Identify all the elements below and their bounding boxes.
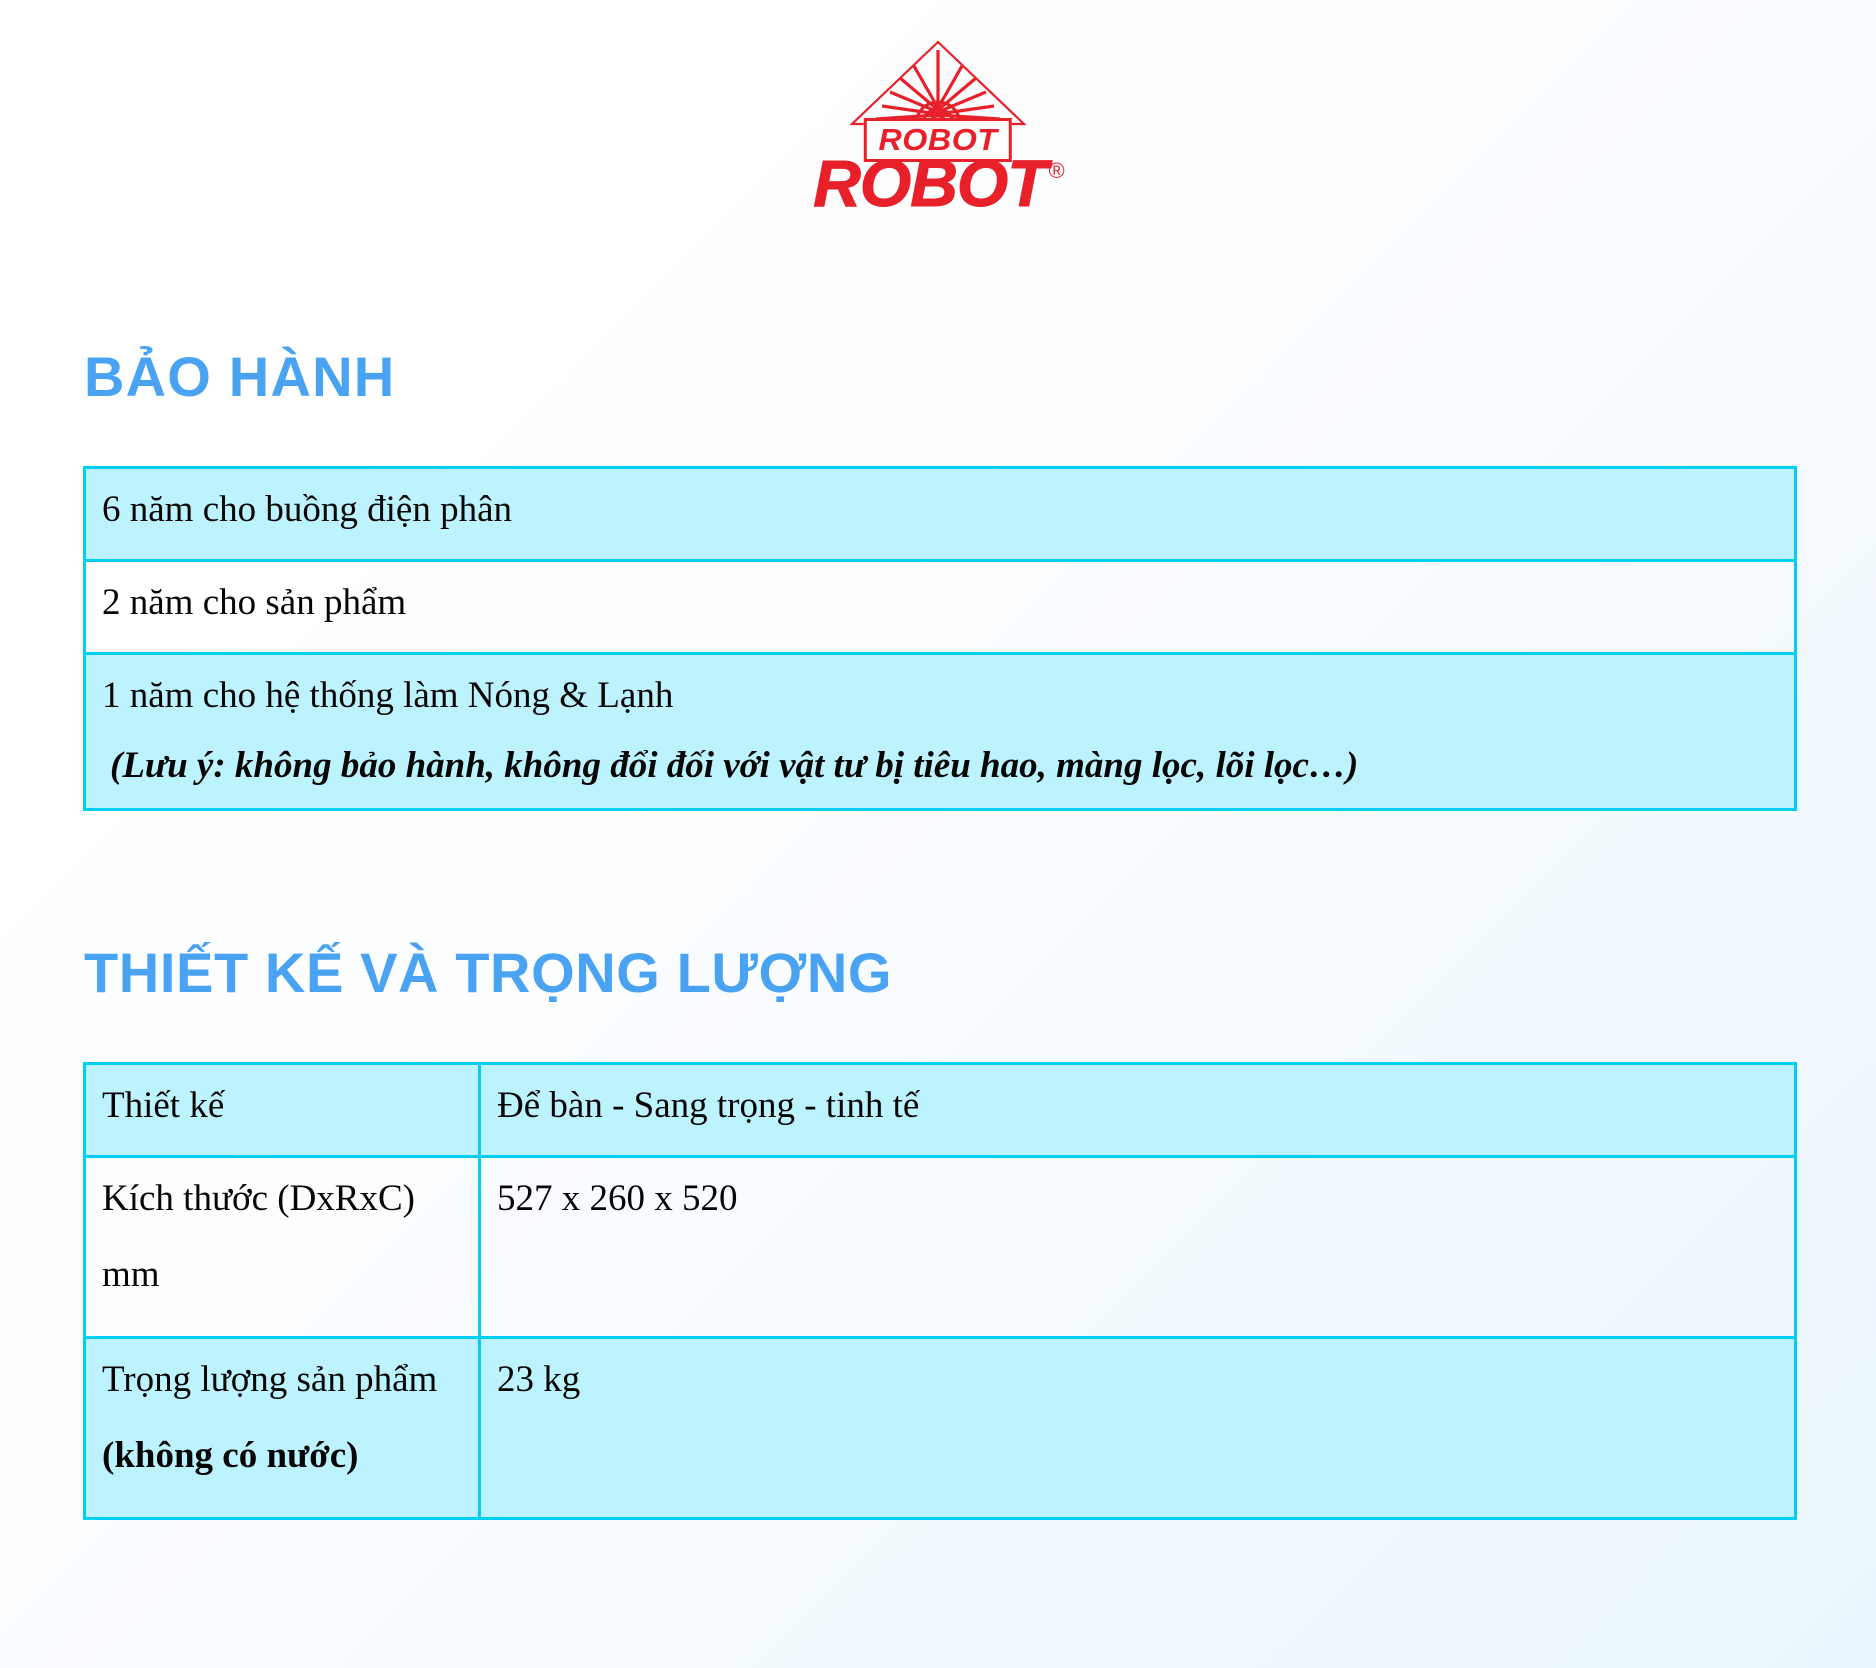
registered-trademark-icon: ® xyxy=(1049,158,1065,183)
section-heading-warranty: BẢO HÀNH xyxy=(84,348,395,407)
warranty-cell-2-main: 1 năm cho hệ thống làm Nóng & Lạnh xyxy=(102,675,673,716)
design-value-0: Để bàn - Sang trọng - tinh tế xyxy=(480,1064,1796,1157)
brand-logo: ROBOT ROBOT® xyxy=(0,40,1876,195)
warranty-cell-0: 6 năm cho buồng điện phân xyxy=(85,468,1796,561)
design-label-2-main: Trọng lượng sản phẩm xyxy=(102,1359,437,1400)
design-label-1-main: Kích thước (DxRxC) xyxy=(102,1178,415,1219)
table-row: 1 năm cho hệ thống làm Nóng & Lạnh (Lưu … xyxy=(85,654,1796,810)
table-row: 6 năm cho buồng điện phân xyxy=(85,468,1796,561)
table-row: 2 năm cho sản phẩm xyxy=(85,561,1796,654)
design-label-2-sub: (không có nước) xyxy=(102,1429,462,1483)
design-label-2: Trọng lượng sản phẩm (không có nước) xyxy=(85,1338,480,1519)
warranty-table: 6 năm cho buồng điện phân 2 năm cho sản … xyxy=(83,466,1797,811)
design-label-1: Kích thước (DxRxC) mm xyxy=(85,1157,480,1338)
design-weight-table: Thiết kế Để bàn - Sang trọng - tinh tế K… xyxy=(83,1062,1797,1520)
logo-wordmark-text: ROBOT xyxy=(813,146,1046,220)
section-heading-design: THIẾT KẾ VÀ TRỌNG LƯỢNG xyxy=(84,944,892,1003)
warranty-note: (Lưu ý: không bảo hành, không đổi đối vớ… xyxy=(102,739,1778,793)
logo-wordmark: ROBOT® xyxy=(813,150,1063,216)
table-row: Kích thước (DxRxC) mm 527 x 260 x 520 xyxy=(85,1157,1796,1338)
design-label-0: Thiết kế xyxy=(85,1064,480,1157)
warranty-cell-2: 1 năm cho hệ thống làm Nóng & Lạnh (Lưu … xyxy=(85,654,1796,810)
table-row: Thiết kế Để bàn - Sang trọng - tinh tế xyxy=(85,1064,1796,1157)
robot-sunburst-emblem-icon xyxy=(848,40,1028,126)
design-label-1-sub: mm xyxy=(102,1248,462,1302)
design-value-1: 527 x 260 x 520 xyxy=(480,1157,1796,1338)
design-value-2: 23 kg xyxy=(480,1338,1796,1519)
table-row: Trọng lượng sản phẩm (không có nước) 23 … xyxy=(85,1338,1796,1519)
warranty-cell-1: 2 năm cho sản phẩm xyxy=(85,561,1796,654)
